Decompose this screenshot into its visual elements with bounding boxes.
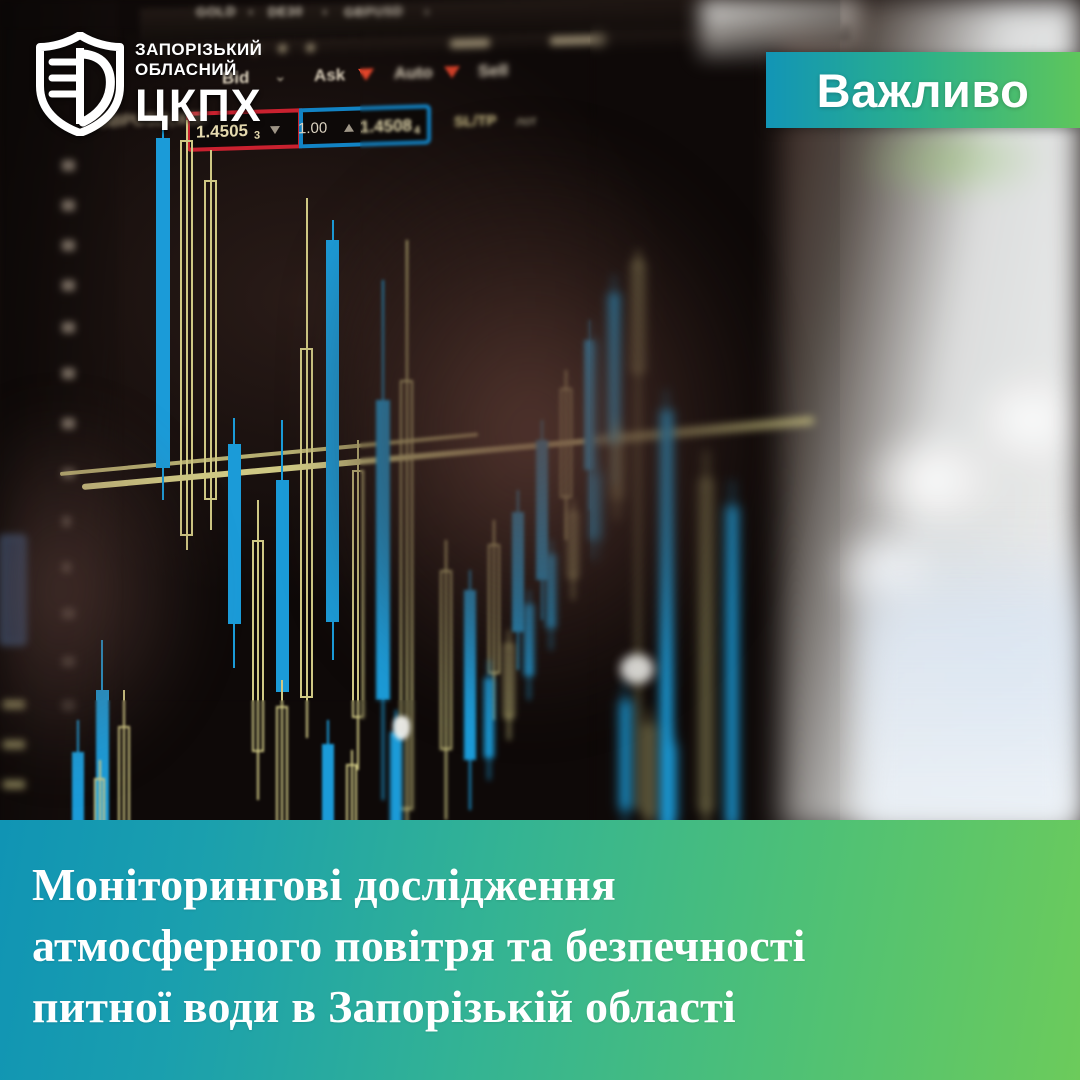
important-badge-label: Важливо [817,63,1030,118]
warm-haze-overlay-2 [0,330,360,830]
logo-line-1: ЗАПОРІЗЬКИЙ [135,41,262,58]
screen-highlight-speck [393,716,410,740]
ask-label: Ask [314,65,345,86]
toolbar-dot-3[interactable] [306,43,315,52]
headline-line-2: атмосферного повітря та безпечності [32,915,1044,976]
warm-haze-overlay [330,90,850,810]
poster-root: GOLD x DE30 x GBPUSD x Bid ⌄ Ask Auto Se… [0,0,1080,1080]
logo-abbreviation: ЦКПХ [135,83,262,128]
chevron-down-icon[interactable]: ⌄ [274,67,287,85]
bokeh-background-lower-right [860,520,1080,830]
headline-line-1: Моніторингові дослідження [32,854,1044,915]
logo-text-block: ЗАПОРІЗЬКИЙ ОБЛАСНИЙ ЦКПХ [135,41,262,128]
monitor-bezel-highlight [700,0,860,58]
organization-logo: ЗАПОРІЗЬКИЙ ОБЛАСНИЙ ЦКПХ [36,32,262,136]
toolbar-dot-2[interactable] [278,44,287,53]
headline-banner: Моніторингові дослідження атмосферного п… [0,820,1080,1080]
logo-line-2: ОБЛАСНИЙ [135,61,262,78]
screen-bokeh-speck [620,654,654,684]
shield-logo-icon [36,32,124,136]
headline-line-3: питної води в Запорізькій області [32,976,1044,1037]
important-badge: Важливо [766,52,1080,128]
